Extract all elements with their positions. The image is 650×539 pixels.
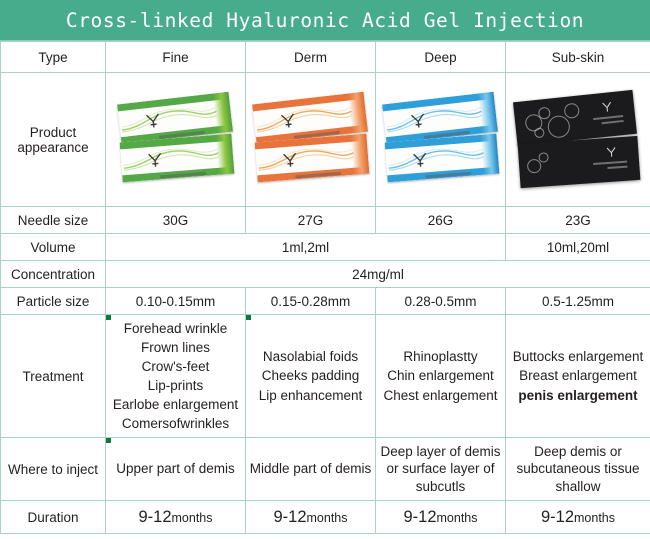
treatment-deep-line-2: Chin enlargement — [379, 366, 502, 385]
cell-duration-derm: 9-12months — [246, 501, 376, 534]
cell-comment-marker-icon — [246, 315, 251, 320]
deep-product-boxes-image — [379, 76, 502, 204]
column-header-derm: Derm — [246, 42, 376, 73]
derm-product-boxes-image — [249, 76, 372, 204]
product-spec-sheet: Cross-linked Hyaluronic Acid Gel Injecti… — [0, 0, 650, 539]
cell-concentration-merged: 24mg/ml — [106, 261, 650, 288]
treatment-fine-line-3: Crow's-feet — [109, 357, 242, 376]
row-label-duration: Duration — [1, 501, 106, 534]
row-label-treatment: Treatment — [1, 315, 106, 438]
cell-product-fine — [106, 73, 246, 207]
cell-duration-sub-skin: 9-12months — [506, 501, 650, 534]
cell-volume-merged: 1ml,2ml — [106, 234, 506, 261]
duration-deep-unit: months — [437, 511, 478, 525]
duration-deep-number: 9-12 — [403, 508, 436, 526]
cell-needle-size-sub-skin: 23G — [506, 207, 650, 234]
cell-where-to-inject-deep: Deep layer of demis or surface layer of … — [376, 438, 506, 501]
cell-volume-sub-skin: 10ml,20ml — [506, 234, 650, 261]
duration-derm-number: 9-12 — [273, 508, 306, 526]
duration-fine-unit: months — [172, 511, 213, 525]
spec-table: Type Fine Derm Deep Sub-skin Product app… — [0, 41, 650, 534]
cell-comment-marker-icon — [106, 438, 111, 443]
page-title: Cross-linked Hyaluronic Acid Gel Injecti… — [66, 9, 584, 32]
column-header-type: Type — [1, 42, 106, 73]
cell-where-to-inject-fine: Upper part of demis — [106, 438, 246, 501]
treatment-sub-skin-line-1: Buttocks enlargement — [509, 347, 647, 366]
treatment-derm-line-1: Nasolabial foids — [249, 347, 372, 366]
where-to-inject-fine-text: Upper part of demis — [116, 461, 235, 476]
row-label-product-appearance: Product appearance — [1, 73, 106, 207]
table-row-needle-size: Needle size 30G 27G 26G 23G — [1, 207, 650, 234]
treatment-sub-skin-line-2: Breast enlargement — [509, 366, 647, 385]
cell-product-deep — [376, 73, 506, 207]
duration-sub-skin-number: 9-12 — [541, 508, 574, 526]
row-label-concentration: Concentration — [1, 261, 106, 288]
row-label-volume: Volume — [1, 234, 106, 261]
table-header-row: Type Fine Derm Deep Sub-skin — [1, 42, 650, 73]
table-row-duration: Duration 9-12months 9-12months 9-12month… — [1, 501, 650, 534]
sheet-title-band: Cross-linked Hyaluronic Acid Gel Injecti… — [0, 0, 650, 41]
cell-treatment-sub-skin: Buttocks enlargement Breast enlargement … — [506, 315, 650, 438]
cell-treatment-deep: Rhinoplastty Chin enlargement Chest enla… — [376, 315, 506, 438]
cell-particle-size-sub-skin: 0.5-1.25mm — [506, 288, 650, 315]
cell-treatment-derm: Nasolabial foids Cheeks padding Lip enha… — [246, 315, 376, 438]
cell-treatment-fine: Forehead wrinkle Frown lines Crow's-feet… — [106, 315, 246, 438]
row-label-particle-size: Particle size — [1, 288, 106, 315]
treatment-fine-line-5: Earlobe enlargement — [109, 395, 242, 414]
cell-duration-deep: 9-12months — [376, 501, 506, 534]
table-row-particle-size: Particle size 0.10-0.15mm 0.15-0.28mm 0.… — [1, 288, 650, 315]
treatment-derm-line-3: Lip enhancement — [249, 386, 372, 405]
table-row-volume: Volume 1ml,2ml 10ml,20ml — [1, 234, 650, 261]
column-header-sub-skin: Sub-skin — [506, 42, 650, 73]
table-row-treatment: Treatment Forehead wrinkle Frown lines C… — [1, 315, 650, 438]
fine-product-boxes-image — [109, 76, 242, 204]
duration-derm-unit: months — [307, 511, 348, 525]
treatment-deep-line-3: Chest enlargement — [379, 386, 502, 405]
column-header-fine: Fine — [106, 42, 246, 73]
treatment-fine-line-4: Lip-prints — [109, 376, 242, 395]
treatment-sub-skin-line-3: penis enlargement — [509, 386, 647, 405]
row-label-needle-size: Needle size — [1, 207, 106, 234]
table-row-product-appearance: Product appearance — [1, 73, 650, 207]
treatment-derm-line-2: Cheeks padding — [249, 366, 372, 385]
column-header-deep: Deep — [376, 42, 506, 73]
cell-where-to-inject-derm: Middle part of demis — [246, 438, 376, 501]
cell-needle-size-derm: 27G — [246, 207, 376, 234]
treatment-fine-line-1: Forehead wrinkle — [109, 319, 242, 338]
cell-duration-fine: 9-12months — [106, 501, 246, 534]
treatment-fine-line-6: Comersofwrinkles — [109, 414, 242, 433]
duration-fine-number: 9-12 — [138, 508, 171, 526]
row-label-where-to-inject: Where to inject — [1, 438, 106, 501]
treatment-deep-line-1: Rhinoplastty — [379, 347, 502, 366]
cell-where-to-inject-sub-skin: Deep demis or subcutaneous tissue shallo… — [506, 438, 650, 501]
cell-product-sub-skin — [506, 73, 650, 207]
cell-particle-size-deep: 0.28-0.5mm — [376, 288, 506, 315]
cell-particle-size-fine: 0.10-0.15mm — [106, 288, 246, 315]
cell-particle-size-derm: 0.15-0.28mm — [246, 288, 376, 315]
cell-product-derm — [246, 73, 376, 207]
cell-needle-size-deep: 26G — [376, 207, 506, 234]
duration-sub-skin-unit: months — [574, 511, 615, 525]
sub-skin-product-boxes-image — [509, 76, 647, 204]
table-row-where-to-inject: Where to inject Upper part of demis Midd… — [1, 438, 650, 501]
treatment-fine-line-2: Frown lines — [109, 338, 242, 357]
cell-needle-size-fine: 30G — [106, 207, 246, 234]
table-row-concentration: Concentration 24mg/ml — [1, 261, 650, 288]
